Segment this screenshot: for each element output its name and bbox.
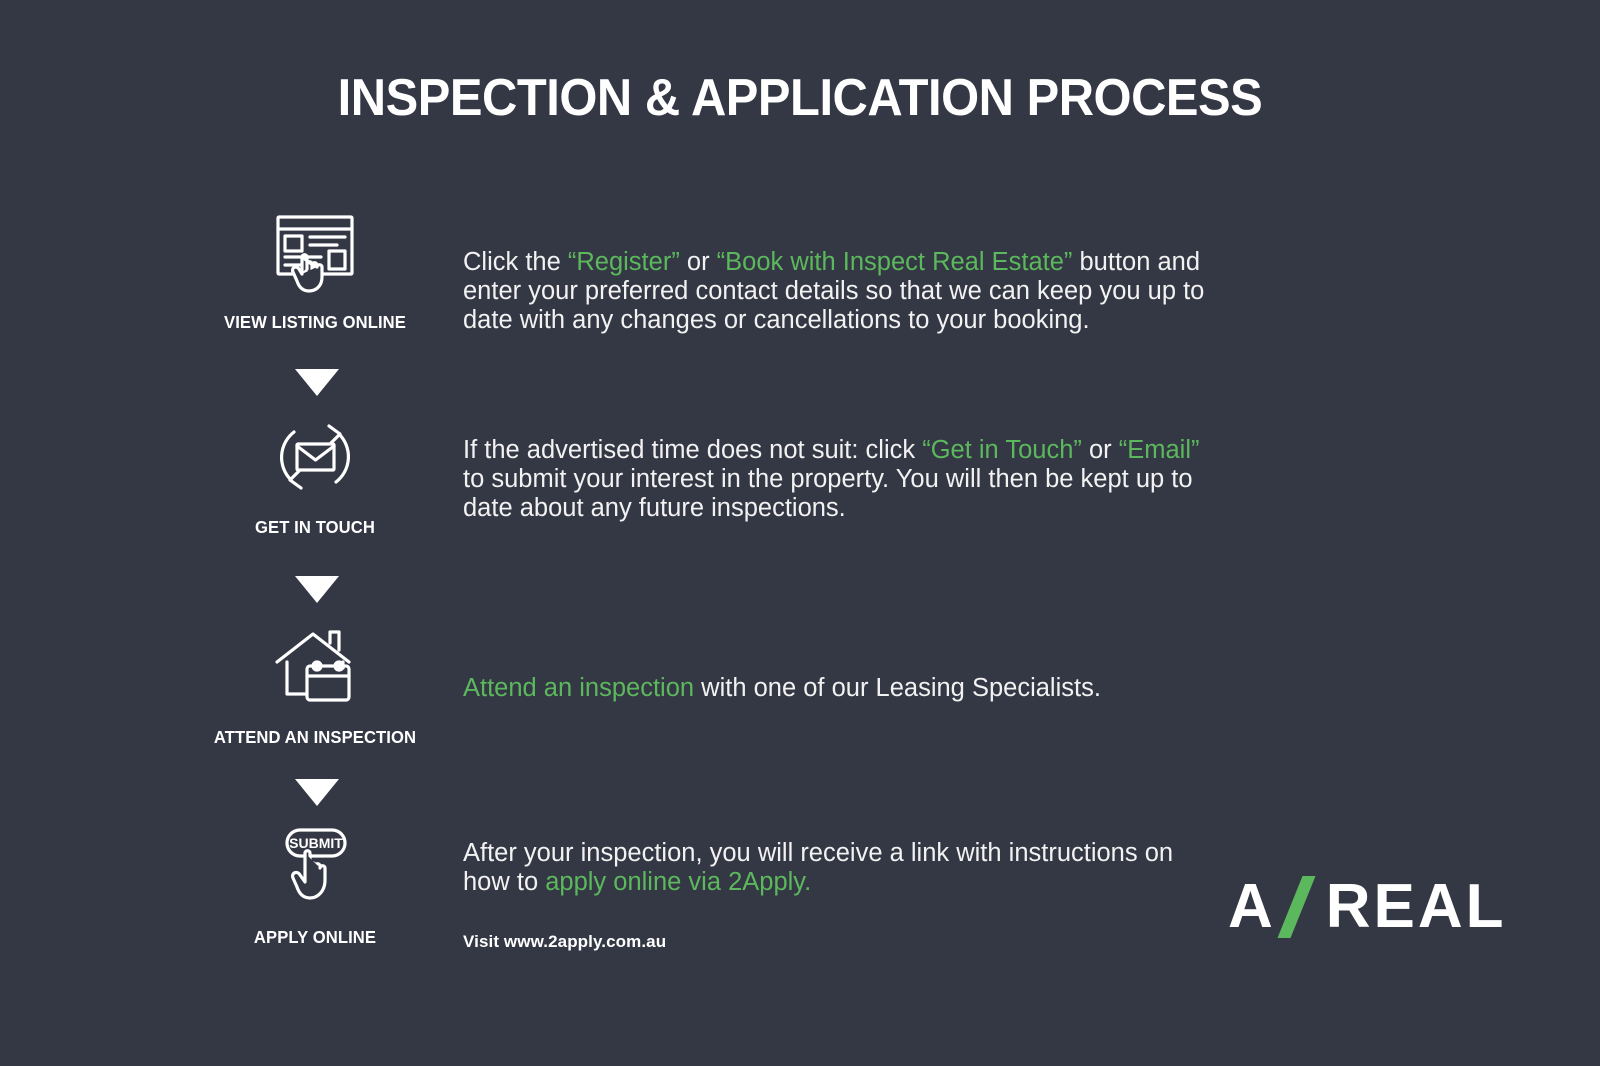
logo-word-real: REAL [1326,876,1507,938]
step-4-icon-column: SUBMIT APPLY ONLINE [195,821,435,948]
step-2-seg-3: “Email” [1119,436,1200,464]
envelope-refresh-icon [195,411,435,503]
step-1-seg-3: “Book with Inspect Real Estate” [717,248,1073,276]
step-3-seg-0: Attend an inspection [463,674,694,702]
step-2-icon-column: GET IN TOUCH [195,411,435,538]
step-3-description: Attend an inspection with one of our Lea… [463,674,1223,703]
step-2-seg-4: to submit your interest in the property.… [463,465,1193,522]
step-2-seg-1: “Get in Touch” [922,436,1082,464]
house-calendar-icon [195,621,435,713]
step-4-label: APPLY ONLINE [201,927,429,948]
visit-url-note: Visit www.2apply.com.au [463,927,1223,956]
step-1-label: VIEW LISTING ONLINE [201,312,429,333]
step-2-seg-2: or [1082,436,1119,464]
page-title: INSPECTION & APPLICATION PROCESS [48,68,1552,128]
step-3-seg-1: with one of our Leasing Specialists. [694,674,1101,702]
brand-logo: A REAL [1228,876,1507,938]
submit-icon-label: SUBMIT [289,835,343,851]
triangle-down-icon-3 [295,779,339,806]
step-3-label: ATTEND AN INSPECTION [201,727,429,748]
logo-letter-a: A [1228,876,1276,938]
step-1-description: Click the “Register” or “Book with Inspe… [463,248,1223,335]
step-2-label: GET IN TOUCH [201,517,429,538]
green-slash-icon [1278,876,1324,938]
triangle-down-icon-2 [295,576,339,603]
step-4-seg-1: apply online via 2Apply. [545,868,811,896]
step-2-seg-0: If the advertised time does not suit: cl… [463,436,922,464]
step-2-description: If the advertised time does not suit: cl… [463,436,1223,523]
step-1-icon-column: VIEW LISTING ONLINE [195,206,435,333]
step-4-description: After your inspection, you will receive … [463,839,1223,956]
triangle-down-icon-1 [295,369,339,396]
step-1-seg-0: Click the [463,248,568,276]
submit-button-cursor-icon: SUBMIT [195,821,435,913]
step-3-icon-column: ATTEND AN INSPECTION [195,621,435,748]
step-1-seg-2: or [680,248,717,276]
listing-window-cursor-icon [195,206,435,298]
step-1-seg-1: “Register” [568,248,680,276]
